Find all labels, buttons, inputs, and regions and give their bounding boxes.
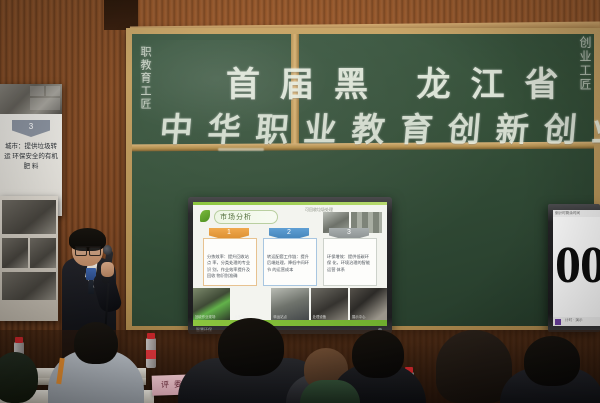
slide-card-row: 1 分拣效率：提升回收站点 率，分类处理的专业识 别，作业效率提升及回收 物识别…	[201, 228, 379, 286]
slide-photo-3: 转运站点	[271, 288, 308, 320]
slide-card-2: 转运配套工作链：提升 后端处理，降低中间环节 的运营成本	[263, 238, 317, 286]
timer-digits: 00	[555, 240, 600, 292]
slide-photo-4-caption: 处理设备	[313, 314, 327, 319]
water-bottle-center	[146, 338, 156, 368]
slide-photo-5-caption: 展示中心	[352, 314, 366, 319]
slide-title: 市场分析	[220, 212, 252, 222]
audience-person-4-head	[352, 330, 404, 378]
poster-chevron-number: 3	[12, 120, 50, 137]
slide-photo-5: 展示中心	[350, 288, 387, 320]
slide-bottom-accent-bar	[193, 320, 387, 326]
audience-person-7-head	[524, 336, 580, 386]
poster-photo	[0, 84, 62, 114]
blackboard-headline-line2: 中华职业教育创新创业大赛	[158, 103, 600, 151]
slide-photo-2: 分拣车间	[232, 288, 269, 320]
timer-footer-label: 计时 · 演示	[565, 318, 583, 323]
photo-scene: 首届黑 龙江省 中华职业教育创新创业大赛 职教育工匠 创业工匠 3 城市：提供垃…	[0, 0, 600, 403]
blackboard-side-note-left: 职教育工匠	[136, 46, 153, 111]
presentation-slide[interactable]: 市场分析 可回收垃圾处理 1 分拣效率：提升回收站点 率，分类处理的专业识 别，…	[193, 202, 387, 326]
slide-title-pill: 市场分析	[214, 210, 278, 224]
audience-person-1-head	[74, 322, 118, 364]
blackboard-side-note-right: 创业工匠	[576, 36, 594, 92]
slide-photo-strip: 回收作业现场 分拣车间 转运站点 处理设备 展示中心	[193, 288, 387, 320]
microphone-head	[103, 245, 112, 255]
slide-photo-3-caption: 转运站点	[273, 314, 287, 319]
card-text-1: 分拣效率：提升回收站点 率，分类处理的专业识 别，作业效率提升及回收 物识别准确	[207, 254, 253, 280]
slide-photo-1-caption: 回收作业现场	[195, 314, 215, 319]
slide-card-3: 环保增效：提供低碳环保 化，环境治理的智能运营 体系	[323, 238, 377, 286]
slide-photo-4: 处理设备	[311, 288, 348, 320]
slide-photo-1: 回收作业现场	[193, 288, 230, 320]
blackboard-headline-line1: 首届黑 龙江省	[226, 57, 579, 106]
card-text-2: 转运配套工作链：提升 后端处理，降低中间环节 的运营成本	[267, 254, 313, 273]
app-badge-icon	[555, 319, 561, 325]
timer-top-label: 倒计时剩余时间	[555, 211, 580, 216]
timer-display[interactable]: 倒计时剩余时间 00 计时 · 演示	[553, 210, 600, 326]
eyeglasses-icon	[75, 246, 101, 254]
slide-card-1: 分拣效率：提升回收站点 率，分类处理的专业识 别，作业效率提升及回收 物识别准确	[203, 238, 257, 286]
left-poster-board-secondary	[0, 196, 58, 321]
speaker-hand	[101, 262, 114, 277]
timer-footer: 计时 · 演示	[553, 317, 600, 326]
timer-top-bar: 倒计时剩余时间	[553, 210, 600, 217]
audience-person-2-head	[218, 318, 284, 376]
card-text-3: 环保增效：提供低碳环保 化，环境治理的智能运营 体系	[327, 254, 373, 273]
slide-top-accent-bar	[193, 202, 387, 205]
leaf-icon	[200, 210, 210, 222]
poster-text: 城市：提供垃圾转运 环保安全的有机肥 料	[4, 142, 58, 172]
